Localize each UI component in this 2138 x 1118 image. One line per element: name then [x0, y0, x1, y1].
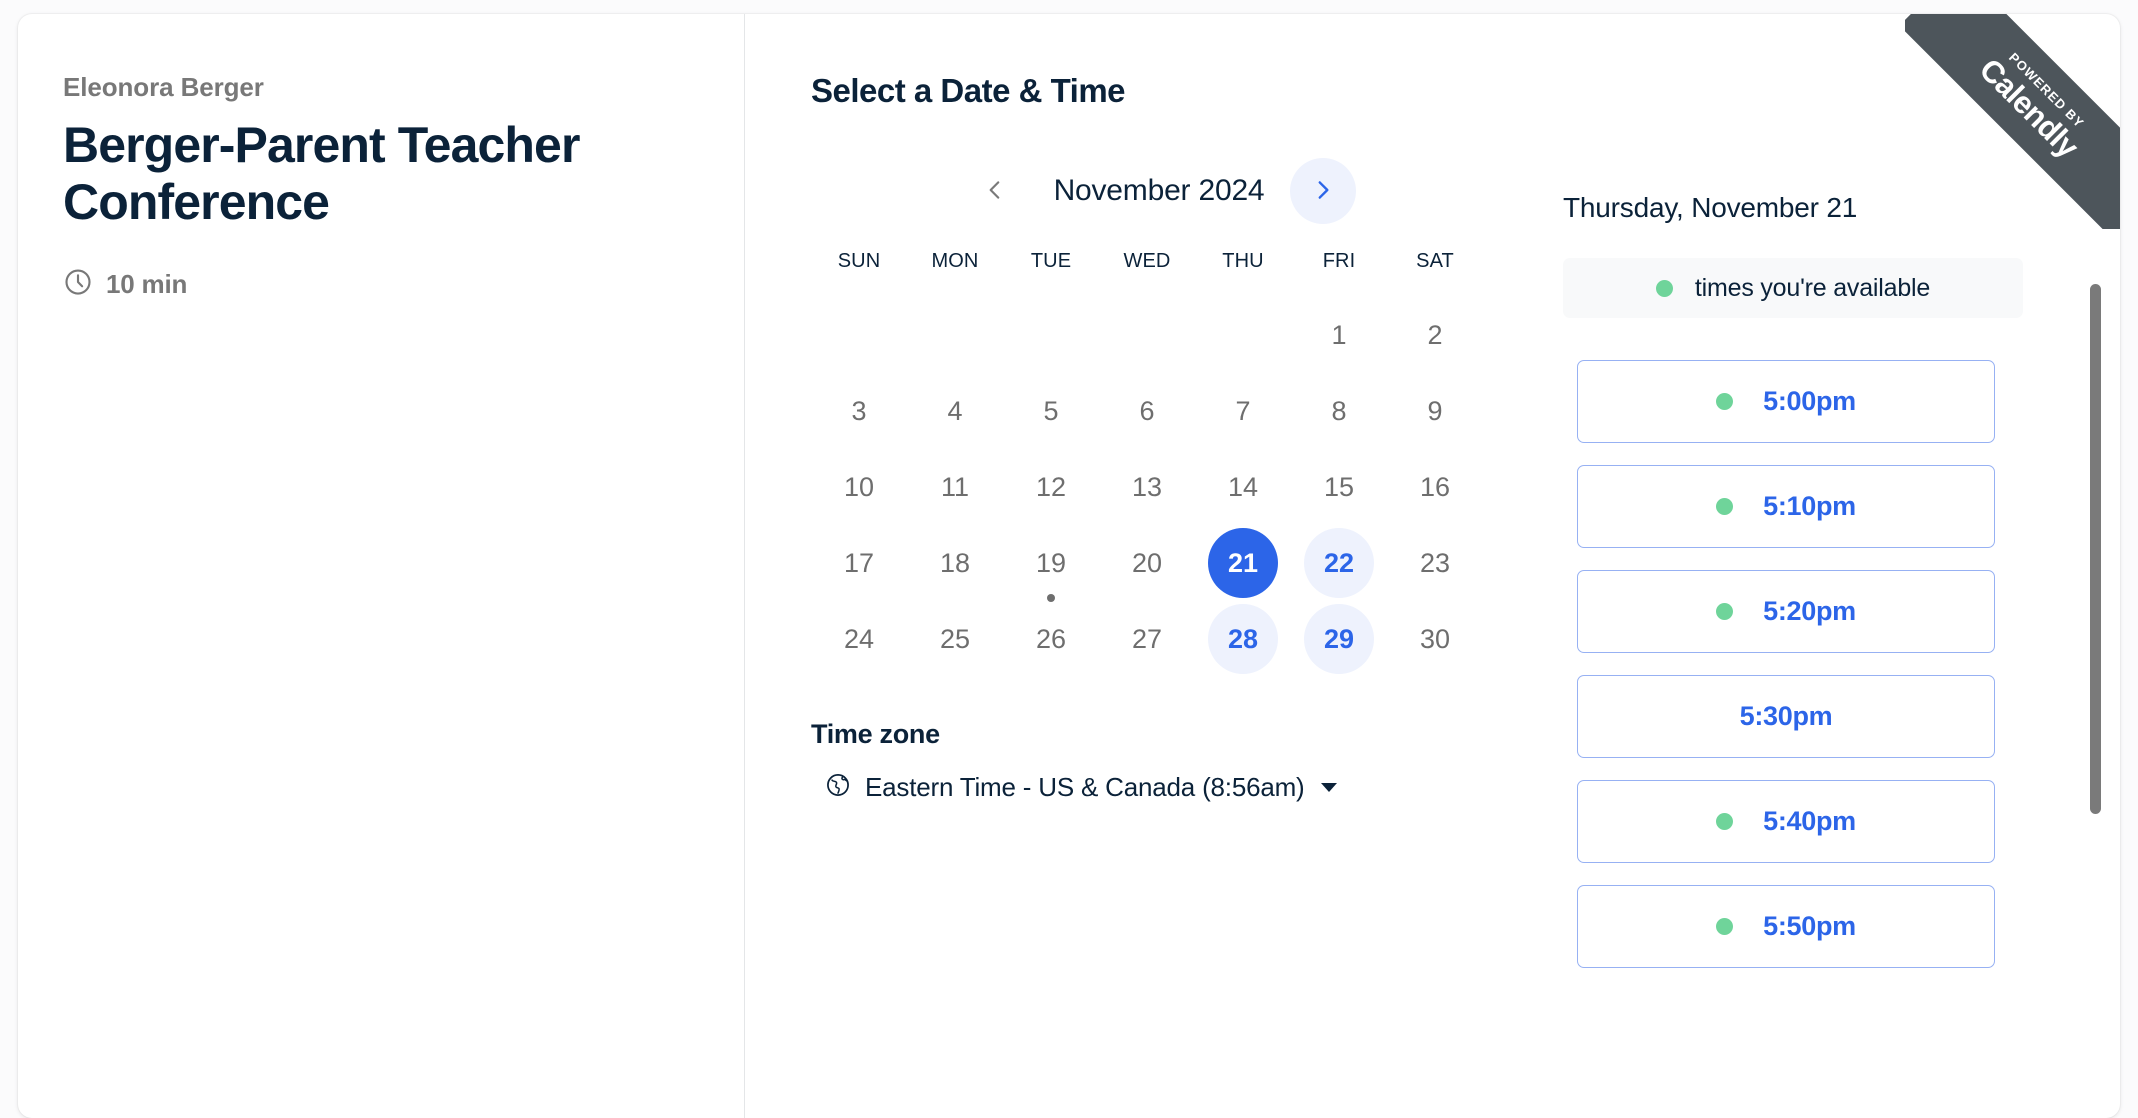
calendar-day-cell: 16 — [1387, 449, 1483, 525]
calendar-day-cell: 12 — [1003, 449, 1099, 525]
booking-card: Eleonora Berger Berger-Parent Teacher Co… — [18, 14, 2120, 1118]
calendar-day-cell: 2 — [1387, 297, 1483, 373]
calendar-day-21[interactable]: 21 — [1208, 528, 1278, 598]
calendar-week-row: 10111213141516 — [811, 449, 1483, 525]
calendar-day-cell: 27 — [1099, 601, 1195, 677]
calendar-day-22[interactable]: 22 — [1304, 528, 1374, 598]
timeslot-panel: Thursday, November 21 times you're avail… — [1545, 14, 2120, 1118]
calendar-week-row: 24252627282930 — [811, 601, 1483, 677]
timeslot-button[interactable]: 5:20pm — [1577, 570, 1995, 653]
calendar-day-cell: 19 — [1003, 525, 1099, 601]
green-dot-icon — [1716, 603, 1733, 620]
calendar-day-cell: 29 — [1291, 601, 1387, 677]
event-info-panel: Eleonora Berger Berger-Parent Teacher Co… — [18, 14, 745, 1118]
calendar-day-cell: 13 — [1099, 449, 1195, 525]
event-duration: 10 min — [63, 267, 682, 302]
calendar-day-8: 8 — [1304, 376, 1374, 446]
calendar-day-29[interactable]: 29 — [1304, 604, 1374, 674]
weekday-header-cell: SAT — [1387, 250, 1483, 273]
calendar-day-cell: 11 — [907, 449, 1003, 525]
calendar-week-row: 3456789 — [811, 373, 1483, 449]
timeslot-label: 5:00pm — [1763, 386, 1856, 417]
calendar-day-10: 10 — [824, 452, 894, 522]
calendar-day-cell: 23 — [1387, 525, 1483, 601]
organizer-name: Eleonora Berger — [63, 72, 682, 103]
calendar-day-cell: 24 — [811, 601, 907, 677]
calendar-day-cell: 3 — [811, 373, 907, 449]
calendar-day-cell: 10 — [811, 449, 907, 525]
month-label: November 2024 — [1054, 174, 1265, 208]
calendar-day-cell: 25 — [907, 601, 1003, 677]
calendar-day-cell: 4 — [907, 373, 1003, 449]
green-dot-icon — [1716, 813, 1733, 830]
timeslot-button[interactable]: 5:50pm — [1577, 885, 1995, 968]
calendar-day-cell: 21 — [1195, 525, 1291, 601]
calendar-day-18: 18 — [920, 528, 990, 598]
calendar-day-26: 26 — [1016, 604, 1086, 674]
calendar-day-empty — [920, 300, 990, 370]
calendar-day-13: 13 — [1112, 452, 1182, 522]
selected-date-heading: Thursday, November 21 — [1563, 192, 2120, 224]
calendar-day-25: 25 — [920, 604, 990, 674]
calendar-week-row: 12 — [811, 297, 1483, 373]
calendar-day-empty — [1208, 300, 1278, 370]
calendar-day-3: 3 — [824, 376, 894, 446]
weekday-header-cell: FRI — [1291, 250, 1387, 273]
calendar-day-cell — [907, 297, 1003, 373]
clock-icon — [63, 267, 93, 302]
calendar-weeks: 1234567891011121314151617181920212223242… — [811, 297, 1483, 677]
page-title: Select a Date & Time — [811, 72, 1545, 110]
green-dot-icon — [1716, 498, 1733, 515]
weekday-header-cell: WED — [1099, 250, 1195, 273]
weekday-header-cell: TUE — [1003, 250, 1099, 273]
month-navigation: November 2024 — [811, 158, 1545, 224]
calendar-day-cell: 8 — [1291, 373, 1387, 449]
timeslot-button[interactable]: 5:00pm — [1577, 360, 1995, 443]
calendar-day-28[interactable]: 28 — [1208, 604, 1278, 674]
globe-icon — [825, 772, 851, 803]
calendar-day-15: 15 — [1304, 452, 1374, 522]
calendar-day-12: 12 — [1016, 452, 1086, 522]
timezone-selector[interactable]: Eastern Time - US & Canada (8:56am) — [811, 772, 1337, 803]
availability-legend: times you're available — [1563, 258, 2023, 318]
next-month-button[interactable] — [1290, 158, 1356, 224]
calendar-day-5: 5 — [1016, 376, 1086, 446]
calendar-day-cell: 22 — [1291, 525, 1387, 601]
timeslot-label: 5:40pm — [1763, 806, 1856, 837]
calendar-day-cell: 17 — [811, 525, 907, 601]
calendar-day-cell: 28 — [1195, 601, 1291, 677]
calendar-panel: Select a Date & Time November 2024 SU — [745, 14, 1545, 1118]
calendar-day-20: 20 — [1112, 528, 1182, 598]
weekday-header-cell: SUN — [811, 250, 907, 273]
calendar-day-cell — [1195, 297, 1291, 373]
calendar-day-cell: 7 — [1195, 373, 1291, 449]
timeslot-label: 5:50pm — [1763, 911, 1856, 942]
green-dot-icon — [1656, 280, 1673, 297]
calendar-day-cell — [811, 297, 907, 373]
chevron-down-icon — [1321, 783, 1337, 792]
calendar-day-7: 7 — [1208, 376, 1278, 446]
timeslot-button[interactable]: 5:40pm — [1577, 780, 1995, 863]
calendar-day-cell: 14 — [1195, 449, 1291, 525]
weekday-header: SUNMONTUEWEDTHUFRISAT — [811, 250, 1483, 273]
timezone-value: Eastern Time - US & Canada (8:56am) — [865, 772, 1305, 803]
calendar-day-17: 17 — [824, 528, 894, 598]
calendar-day-cell: 26 — [1003, 601, 1099, 677]
timeslot-button[interactable]: 5:30pm — [1577, 675, 1995, 758]
calendar-day-cell — [1099, 297, 1195, 373]
calendar-day-24: 24 — [824, 604, 894, 674]
calendar-day-empty — [1016, 300, 1086, 370]
weekday-header-cell: THU — [1195, 250, 1291, 273]
timeslot-list: 5:00pm5:10pm5:20pm5:30pm5:40pm5:50pm — [1577, 360, 1995, 968]
green-dot-icon — [1716, 918, 1733, 935]
calendar-day-cell: 20 — [1099, 525, 1195, 601]
previous-month-button[interactable] — [962, 158, 1028, 224]
calendar-day-6: 6 — [1112, 376, 1182, 446]
availability-legend-label: times you're available — [1695, 274, 1930, 303]
calendar-day-cell: 30 — [1387, 601, 1483, 677]
timezone-section: Time zone Eastern Time - US & Canada (8:… — [811, 719, 1545, 803]
calendar-day-9: 9 — [1400, 376, 1470, 446]
calendar-day-19: 19 — [1016, 528, 1086, 598]
calendar-day-14: 14 — [1208, 452, 1278, 522]
event-title: Berger-Parent Teacher Conference — [63, 117, 682, 231]
scrollbar-thumb[interactable] — [2090, 284, 2101, 814]
calendar-day-23: 23 — [1400, 528, 1470, 598]
calendar-day-1: 1 — [1304, 300, 1374, 370]
calendar-day-cell: 18 — [907, 525, 1003, 601]
calendar-day-2: 2 — [1400, 300, 1470, 370]
calendar-day-empty — [824, 300, 894, 370]
timeslot-button[interactable]: 5:10pm — [1577, 465, 1995, 548]
calendar-week-row: 17181920212223 — [811, 525, 1483, 601]
calendar-day-empty — [1112, 300, 1182, 370]
duration-label: 10 min — [106, 269, 187, 300]
chevron-right-icon — [1310, 177, 1336, 206]
timeslot-label: 5:30pm — [1740, 701, 1833, 732]
calendar-day-cell — [1003, 297, 1099, 373]
calendar-grid: SUNMONTUEWEDTHUFRISAT 123456789101112131… — [811, 250, 1483, 677]
calendar-day-cell: 1 — [1291, 297, 1387, 373]
calendar-day-27: 27 — [1112, 604, 1182, 674]
timeslot-label: 5:10pm — [1763, 491, 1856, 522]
calendar-day-cell: 9 — [1387, 373, 1483, 449]
calendar-day-30: 30 — [1400, 604, 1470, 674]
green-dot-icon — [1716, 393, 1733, 410]
calendar-day-16: 16 — [1400, 452, 1470, 522]
scrollbar-track — [2088, 14, 2102, 1118]
calendar-day-4: 4 — [920, 376, 990, 446]
calendar-day-cell: 15 — [1291, 449, 1387, 525]
chevron-left-icon — [982, 177, 1008, 206]
calendar-day-cell: 5 — [1003, 373, 1099, 449]
calendar-day-cell: 6 — [1099, 373, 1195, 449]
timeslot-label: 5:20pm — [1763, 596, 1856, 627]
calendar-day-11: 11 — [920, 452, 990, 522]
timezone-heading: Time zone — [811, 719, 1545, 750]
weekday-header-cell: MON — [907, 250, 1003, 273]
